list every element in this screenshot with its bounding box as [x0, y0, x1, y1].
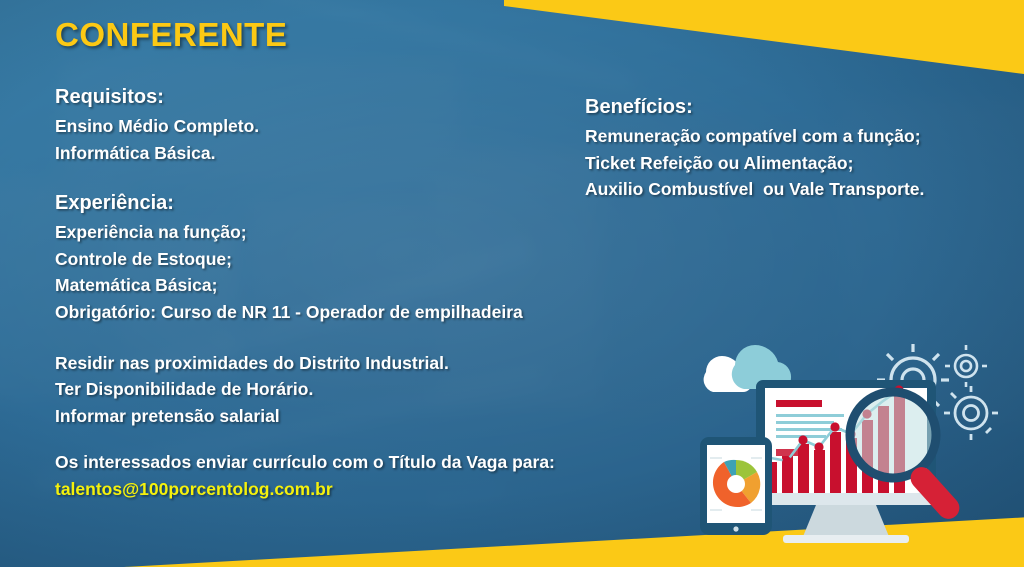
benefits-item: Remuneração compatível com a função; — [585, 123, 1005, 150]
spacer — [55, 326, 655, 350]
contact-email[interactable]: talentos@100porcentolog.com.br — [55, 476, 655, 503]
gear-small-icon — [945, 345, 987, 387]
requirements-heading: Requisitos: — [55, 84, 655, 111]
gear-medium-icon — [944, 386, 998, 440]
benefits-item: Ticket Refeição ou Alimentação; — [585, 150, 1005, 177]
benefits-item: Auxilio Combustível ou Vale Transporte. — [585, 176, 1005, 203]
right-content-column: Benefícios: Remuneração compatível com a… — [585, 94, 1005, 203]
condition-item: Informar pretensão salarial — [55, 403, 655, 430]
requirements-item: Informática Básica. — [55, 140, 655, 167]
experience-item: Obrigatório: Curso de NR 11 - Operador d… — [55, 299, 655, 326]
benefits-heading: Benefícios: — [585, 94, 1005, 121]
experience-item: Matemática Básica; — [55, 272, 655, 299]
page-title: CONFERENTE — [55, 16, 287, 54]
spacer — [55, 166, 655, 190]
job-posting-poster: CONFERENTE Requisitos: Ensino Médio Comp… — [0, 0, 1024, 567]
data-analytics-illustration — [688, 330, 1018, 552]
tablet-icon — [700, 437, 772, 535]
experience-item: Controle de Estoque; — [55, 246, 655, 273]
call-to-action: Os interessados enviar currículo com o T… — [55, 449, 655, 476]
condition-item: Residir nas proximidades do Distrito Ind… — [55, 350, 655, 377]
experience-heading: Experiência: — [55, 190, 655, 217]
condition-item: Ter Disponibilidade de Horário. — [55, 376, 655, 403]
spacer — [55, 429, 655, 449]
requirements-item: Ensino Médio Completo. — [55, 113, 655, 140]
experience-item: Experiência na função; — [55, 219, 655, 246]
left-content-column: Requisitos: Ensino Médio Completo. Infor… — [55, 84, 655, 503]
